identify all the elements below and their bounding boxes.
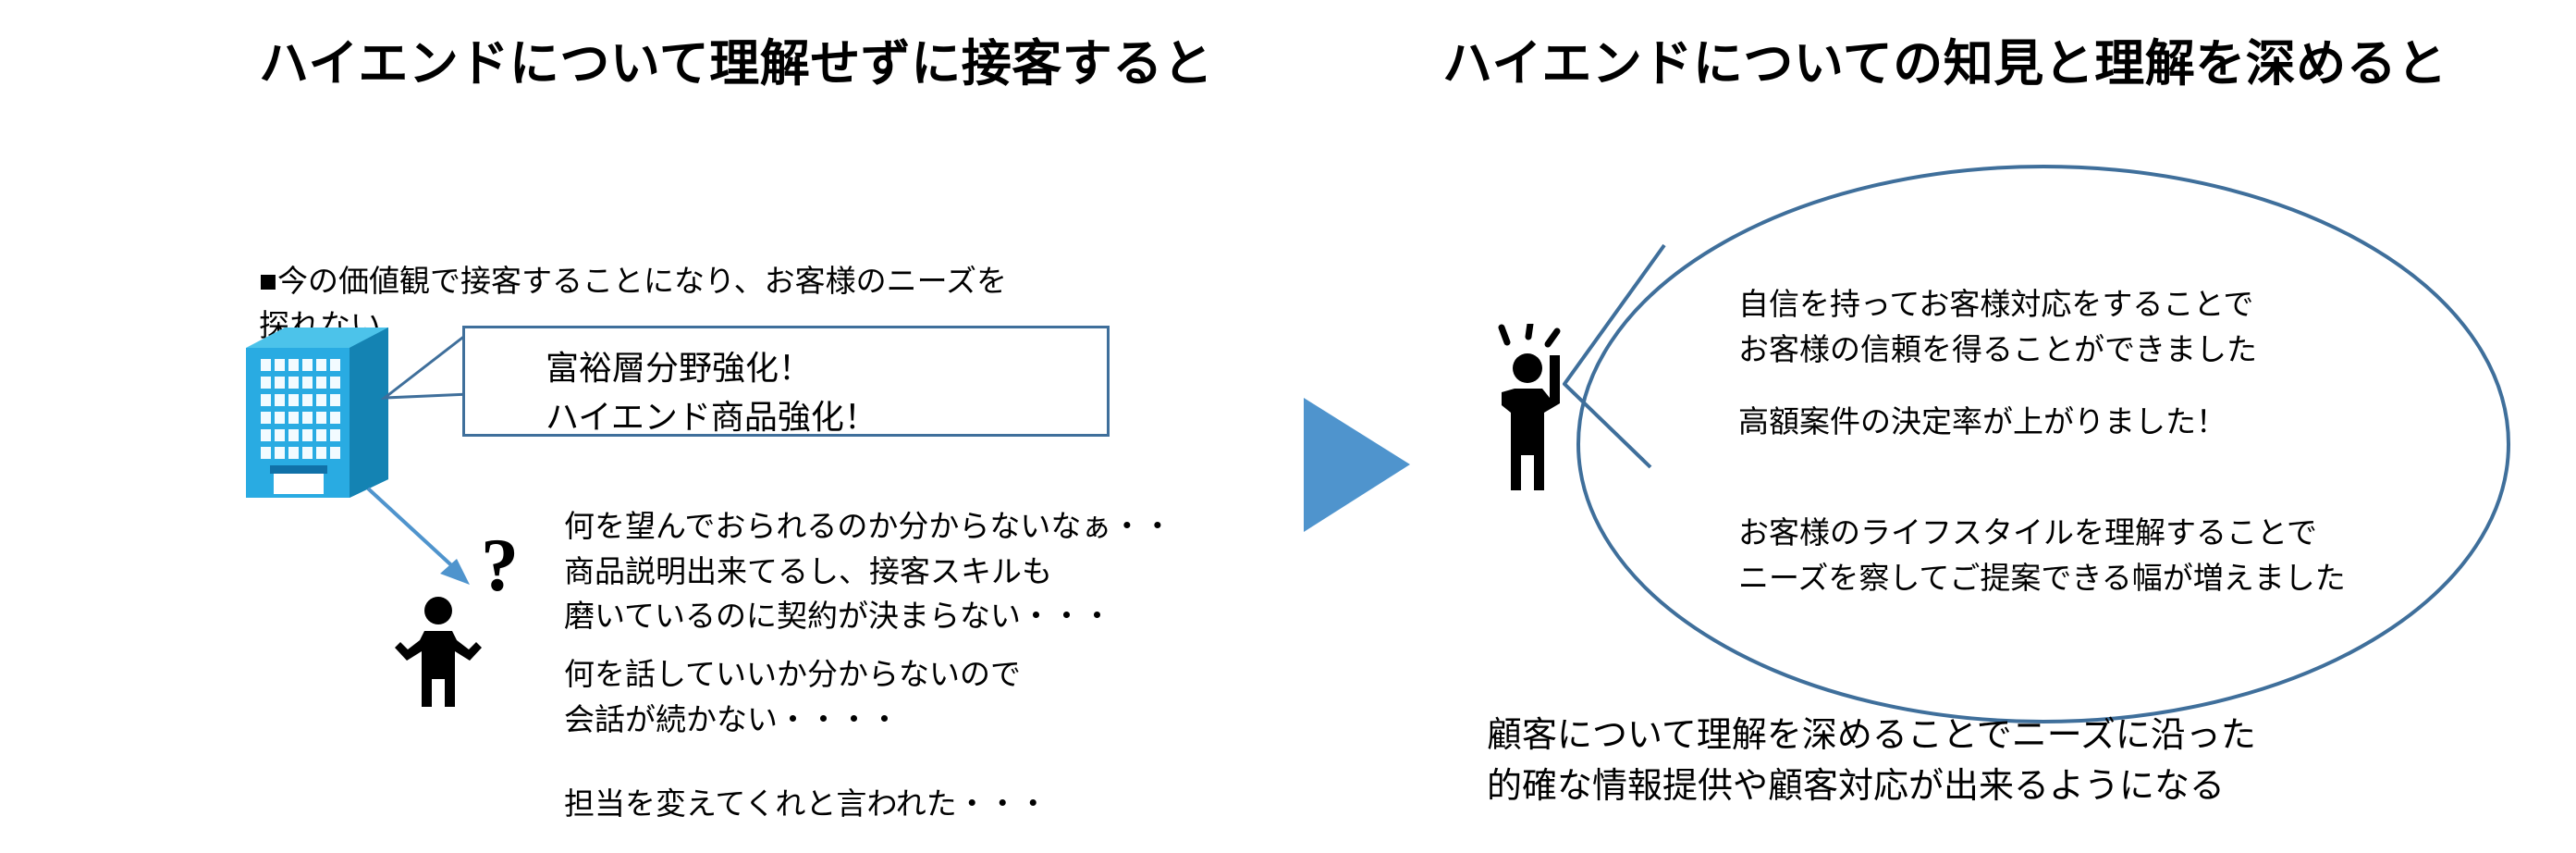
question-mark-icon: ? xyxy=(481,527,519,603)
pain-point-3: 担当を変えてくれと言われた・・・ xyxy=(564,782,1049,827)
callout-tail-icon xyxy=(374,326,475,455)
callout-text: 富裕層分野強化！ ハイエンド商品強化！ xyxy=(546,344,877,441)
celebrating-person-icon xyxy=(1479,324,1604,509)
bubble-line-3: お客様のライフスタイルを理解することで ニーズを察してご提案できる幅が増えました xyxy=(1738,511,2346,600)
diagonal-arrow-icon xyxy=(361,481,490,601)
building-icon xyxy=(229,322,396,498)
bubble-line-2: 高額案件の決定率が上がりました！ xyxy=(1738,400,2226,445)
bullet-marker: ■ xyxy=(259,264,277,298)
transition-arrow-icon xyxy=(1304,398,1410,532)
bubble-line-1: 自信を持ってお客様対応をすることで お客様の信頼を得ることができました xyxy=(1738,282,2257,372)
left-panel-title: ハイエンドについて理解せずに接客すると xyxy=(259,37,1213,92)
pain-point-1: 何を望んでおられるのか分からないなぁ・・ 商品説明出来てるし、接客スキルも 磨い… xyxy=(564,504,1172,639)
pain-point-2: 何を話していいか分からないので 会話が続かない・・・・ xyxy=(564,652,1021,742)
conclusion-text: 顧客について理解を深めることでニーズに沿った 的確な情報提供や顧客対応が出来るよ… xyxy=(1487,711,2256,812)
slide-canvas: ハイエンドについて理解せずに接客すると ■今の価値観で接客することになり、お客様… xyxy=(0,0,2576,853)
right-panel-title: ハイエンドについての知見と理解を深めると xyxy=(1442,37,2447,92)
confused-person-icon xyxy=(390,594,487,710)
